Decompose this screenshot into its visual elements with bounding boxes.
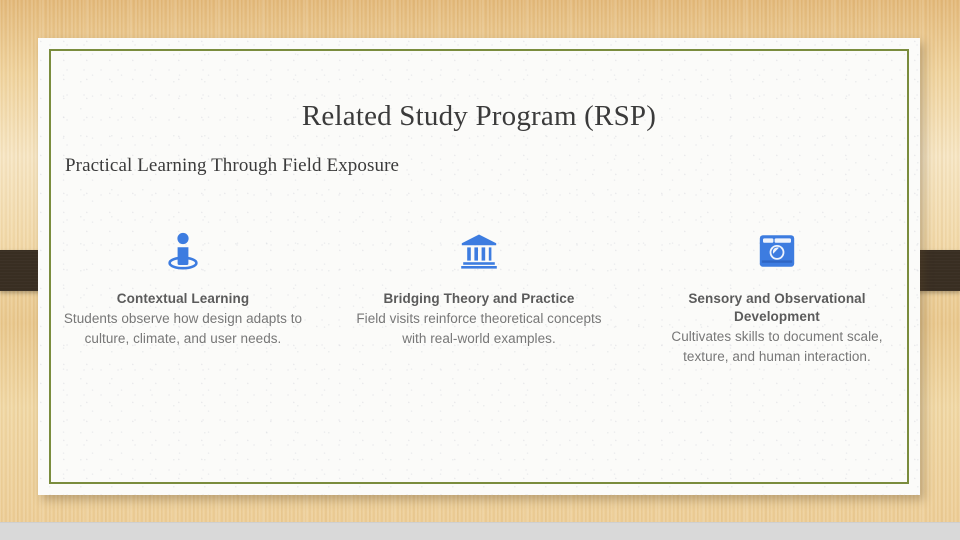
feature-heading: Contextual Learning bbox=[48, 290, 318, 308]
slide-subtitle: Practical Learning Through Field Exposur… bbox=[65, 155, 399, 177]
camera-icon bbox=[640, 228, 914, 274]
person-location-icon bbox=[48, 228, 318, 274]
feature-column: Contextual Learning Students observe how… bbox=[38, 228, 332, 350]
feature-columns: Contextual Learning Students observe how… bbox=[38, 228, 920, 368]
slide-stage: Related Study Program (RSP) Practical Le… bbox=[0, 0, 960, 540]
feature-column: Sensory and Observational Development Cu… bbox=[626, 228, 920, 368]
slide-content: Related Study Program (RSP) Practical Le… bbox=[38, 38, 920, 495]
feature-body: Field visits reinforce theoretical conce… bbox=[348, 309, 610, 350]
feature-body: Cultivates skills to document scale, tex… bbox=[667, 327, 887, 368]
page-title: Related Study Program (RSP) bbox=[38, 100, 920, 133]
feature-heading: Sensory and Observational Development bbox=[667, 290, 887, 326]
feature-column: Bridging Theory and Practice Field visit… bbox=[332, 228, 626, 350]
classical-building-icon bbox=[346, 228, 612, 274]
feature-heading: Bridging Theory and Practice bbox=[348, 290, 610, 308]
viewer-bottom-strip bbox=[0, 522, 960, 540]
feature-body: Students observe how design adapts to cu… bbox=[48, 309, 318, 350]
